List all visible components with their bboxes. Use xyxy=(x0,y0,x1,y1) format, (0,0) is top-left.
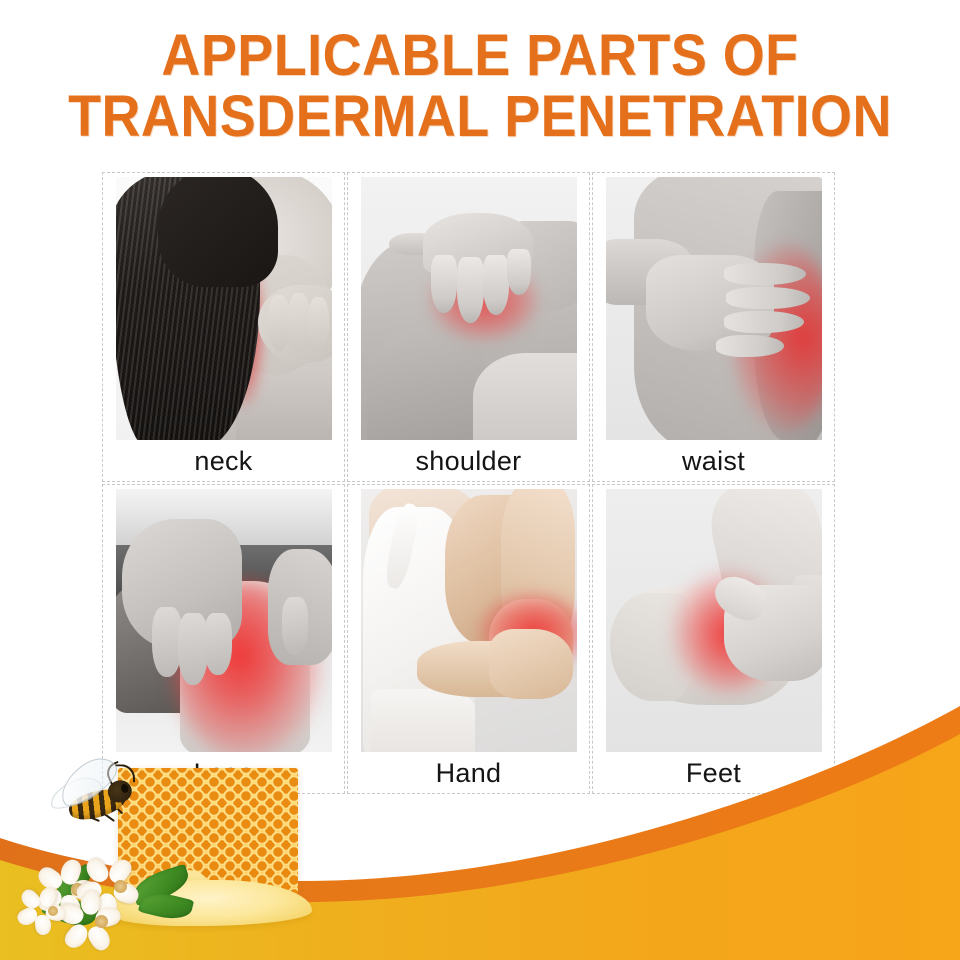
cell-label-neck: neck xyxy=(194,441,252,481)
poster-canvas: APPLICABLE PARTS OF TRANSDERMAL PENETRAT… xyxy=(0,0,960,960)
hand-pressing-lower-back-photo xyxy=(606,177,822,440)
white-blossom-flowers xyxy=(36,854,216,950)
cell-label-waist: waist xyxy=(682,441,745,481)
cell-label-shoulder: shoulder xyxy=(416,441,522,481)
page-title: APPLICABLE PARTS OF TRANSDERMAL PENETRAT… xyxy=(0,28,960,144)
hand-gripping-shoulder-photo xyxy=(361,177,577,440)
woman-holding-elbow-photo xyxy=(361,489,577,752)
blossom-icon xyxy=(30,888,76,934)
hands-holding-knee-photo xyxy=(116,489,332,752)
title-line-2: TRANSDERMAL PENETRATION xyxy=(34,89,927,144)
grid-cell-hand[interactable]: Hand xyxy=(347,484,590,794)
cell-label-feet: Feet xyxy=(686,753,741,793)
body-parts-grid: neck shoulder xyxy=(102,172,862,797)
grid-cell-legs[interactable]: Legs xyxy=(102,484,345,794)
cell-label-hand: Hand xyxy=(436,753,502,793)
grid-cell-shoulder[interactable]: shoulder xyxy=(347,172,590,482)
hand-gripping-ankle-photo xyxy=(606,489,822,752)
grid-cell-waist[interactable]: waist xyxy=(592,172,835,482)
blossom-icon xyxy=(72,892,130,950)
woman-holding-neck-photo xyxy=(116,177,332,440)
grid-cell-neck[interactable]: neck xyxy=(102,172,345,482)
title-line-1: APPLICABLE PARTS OF xyxy=(34,28,927,83)
honey-artwork xyxy=(36,762,336,952)
grid-cell-feet[interactable]: Feet xyxy=(592,484,835,794)
